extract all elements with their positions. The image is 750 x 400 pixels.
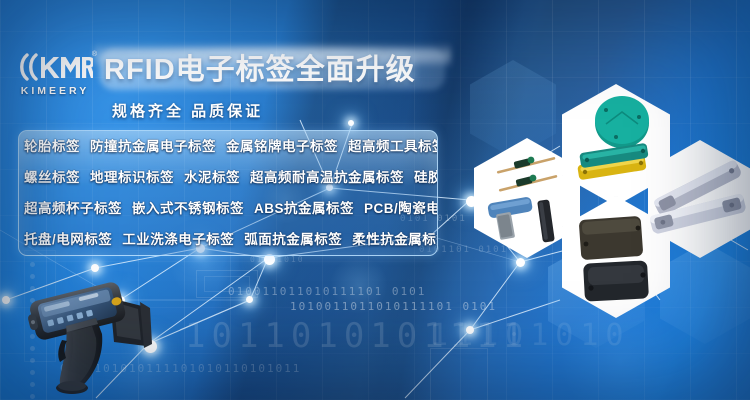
network-node (348, 120, 354, 126)
tag-row: 托盘/电网标签工业洗涤电子标签弧面抗金属标签柔性抗金属标签 (19, 224, 437, 255)
tag-item[interactable]: 超高频耐高温抗金属标签 (250, 170, 404, 185)
handheld-rfid-reader[interactable] (22, 272, 162, 398)
rfid-promo-banner: 010011011010111101 0101 1010011011010111… (0, 0, 750, 400)
tag-item[interactable]: PCB/陶瓷电子标签 (364, 201, 438, 216)
network-node (246, 296, 253, 303)
brand-wordmark: KIMEERY (14, 85, 96, 97)
tag-row: 超高频杯子标签嵌入式不锈钢标签ABS抗金属标签PCB/陶瓷电子标签 (19, 193, 437, 224)
network-node (2, 296, 10, 304)
page-title: RFID电子标签全面升级 (104, 52, 444, 88)
tag-item[interactable]: 托盘/电网标签 (24, 232, 112, 247)
tag-item[interactable]: 防撞抗金属电子标签 (90, 139, 216, 154)
tag-item[interactable]: 螺丝标签 (24, 170, 80, 185)
tag-item[interactable]: 超高频工具标签 (348, 139, 438, 154)
tag-item[interactable]: 轮胎标签 (24, 139, 80, 154)
page-subtitle: 规格齐全 品质保证 (112, 100, 263, 121)
tag-category-panel: 轮胎标签防撞抗金属电子标签金属铭牌电子标签超高频工具标签 螺丝标签地理标识标签水… (18, 130, 438, 256)
tag-item[interactable]: 超高频杯子标签 (24, 201, 122, 216)
tag-item[interactable]: 金属铭牌电子标签 (226, 139, 338, 154)
tag-item[interactable]: 嵌入式不锈钢标签 (132, 201, 244, 216)
network-node (516, 258, 525, 267)
brand-logo[interactable]: ® KIMEERY (14, 52, 96, 104)
tag-item[interactable]: 硅胶腕带 (414, 170, 438, 185)
tag-item[interactable]: 柔性抗金属标签 (352, 232, 438, 247)
network-node (91, 264, 99, 272)
tag-item[interactable]: 水泥标签 (184, 170, 240, 185)
tag-row: 轮胎标签防撞抗金属电子标签金属铭牌电子标签超高频工具标签 (19, 131, 437, 162)
network-node (466, 326, 474, 334)
tag-item[interactable]: 工业洗涤电子标签 (122, 232, 234, 247)
tag-item[interactable]: 地理标识标签 (90, 170, 174, 185)
tag-row: 螺丝标签地理标识标签水泥标签超高频耐高温抗金属标签硅胶腕带 (19, 162, 437, 193)
tag-item[interactable]: 弧面抗金属标签 (244, 232, 342, 247)
kmr-monogram-icon: ® (14, 52, 96, 82)
tag-item[interactable]: ABS抗金属标签 (254, 201, 354, 216)
